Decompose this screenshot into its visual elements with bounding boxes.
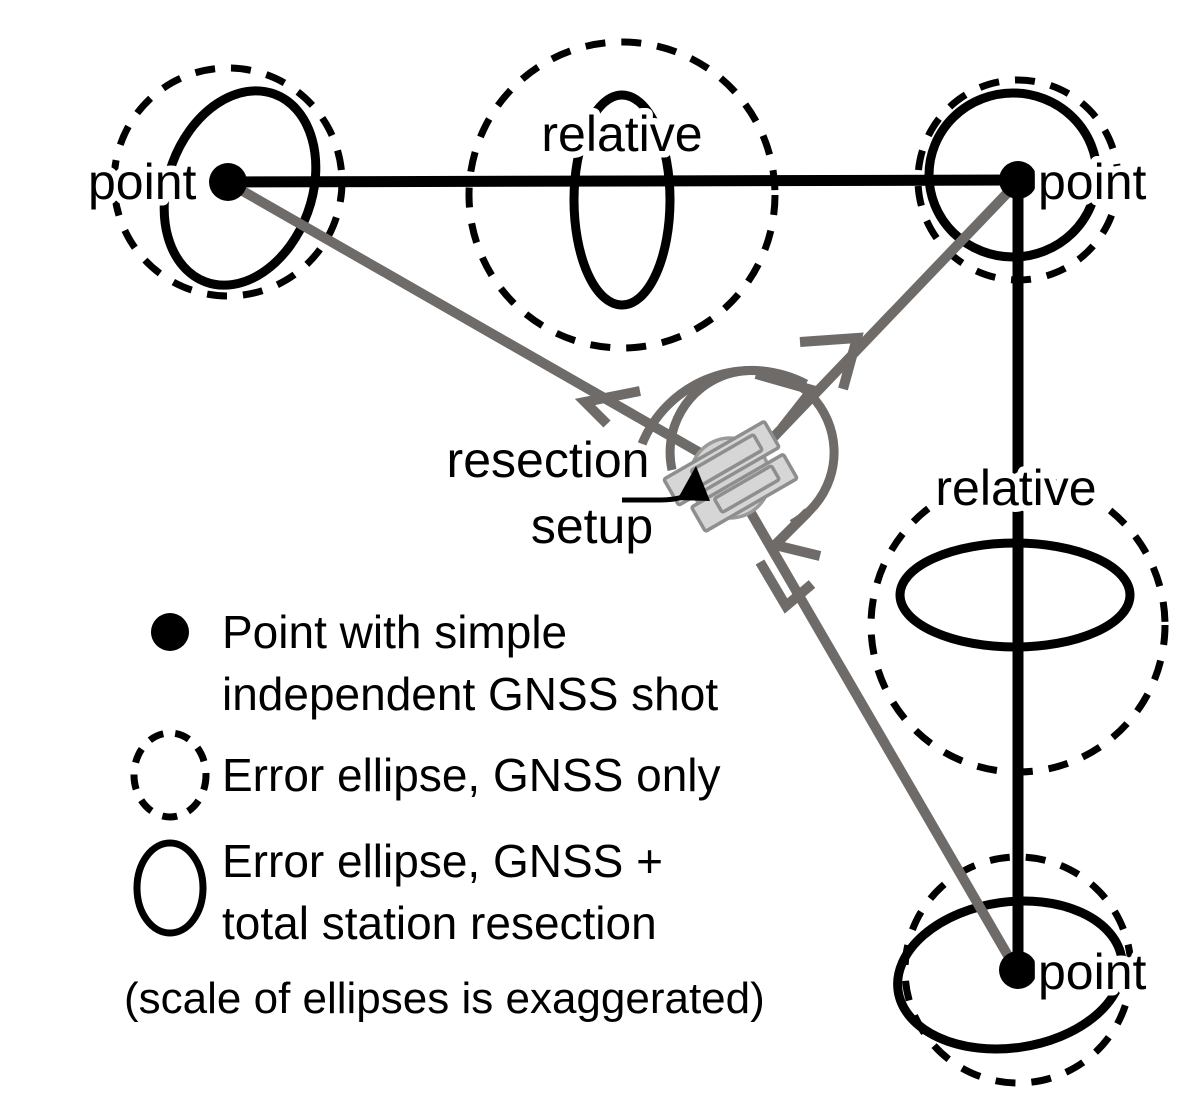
legend-scale-note: (scale of ellipses is exaggerated) [124,974,765,1023]
node-label-top-left: point [88,154,197,210]
relative-label-right: relative [935,460,1096,516]
legend-item-point: Point with simple independent GNSS shot [151,606,718,720]
legend-combined-line-1: Error ellipse, GNSS + [222,835,663,887]
baseline-top-left-to-top-right [228,180,1018,182]
diagram-canvas: point point point relative relative rese… [0,0,1201,1113]
node-dot-top-right[interactable] [999,161,1037,199]
legend-point-line-1: Point with simple [222,606,567,658]
legend-dashed-ellipse-icon [134,733,206,817]
node-dot-bottom-right[interactable] [999,951,1037,989]
legend-gnss-only-line-1: Error ellipse, GNSS only [222,749,721,801]
relative-label-top: relative [541,106,702,162]
resection-setup-callout: resection setup [447,432,654,554]
legend-filled-dot-icon [151,613,189,651]
legend-item-gnss-only: Error ellipse, GNSS only [134,733,721,817]
legend-item-gnss-plus-resection: Error ellipse, GNSS + total station rese… [137,835,663,949]
resection-ray-to-bottom-right [740,494,1014,966]
callout-line-1: resection [447,432,650,488]
legend-solid-ellipse-icon [137,843,203,933]
node-dot-top-left[interactable] [209,163,247,201]
legend-point-line-2: independent GNSS shot [222,668,718,720]
node-label-bottom-right: point [1038,944,1147,1000]
node-label-top-right: point [1038,154,1147,210]
callout-line-2: setup [531,498,653,554]
legend: Point with simple independent GNSS shot … [124,606,765,1023]
rotation-arc-inner-arrowhead [775,512,820,556]
survey-network-figure: point point point relative relative rese… [0,0,1201,1113]
legend-combined-line-2: total station resection [222,897,657,949]
